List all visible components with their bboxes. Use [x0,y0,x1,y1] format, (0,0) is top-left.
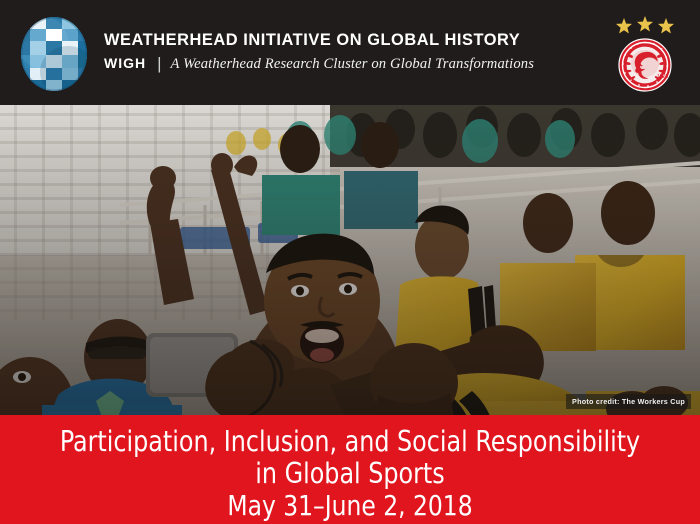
photo-credit: Photo credit: The Workers Cup [566,394,691,409]
org-subtitle-row: WIGH | A Weatherhead Research Cluster on… [104,53,584,73]
globe-icon-svg [16,16,92,92]
header-text-block: WEATHERHEAD INITIATIVE ON GLOBAL HISTORY… [104,30,584,73]
olympiacos-crest-icon: 1925 [606,14,684,94]
event-banner: Participation, Inclusion, and Social Res… [0,415,700,524]
org-abbreviation: WIGH [104,55,146,71]
svg-text:1925: 1925 [657,74,668,80]
event-dates: May 31–June 2, 2018 [25,489,676,522]
crest-stars [616,16,674,34]
event-photo-illustration [0,105,700,415]
poster-header: WEATHERHEAD INITIATIVE ON GLOBAL HISTORY… [0,0,700,105]
event-title-line-2: in Global Sports [25,458,676,489]
org-tagline: A Weatherhead Research Cluster on Global… [171,56,535,73]
event-title-line-1: Participation, Inclusion, and Social Res… [25,415,676,458]
subtitle-divider: | [157,54,161,74]
globe-icon [16,16,92,92]
event-poster: WEATHERHEAD INITIATIVE ON GLOBAL HISTORY… [0,0,700,524]
org-title: WEATHERHEAD INITIATIVE ON GLOBAL HISTORY [104,30,584,50]
olympiacos-crest-svg: 1925 [606,14,684,94]
event-photo: Photo credit: The Workers Cup [0,105,700,415]
